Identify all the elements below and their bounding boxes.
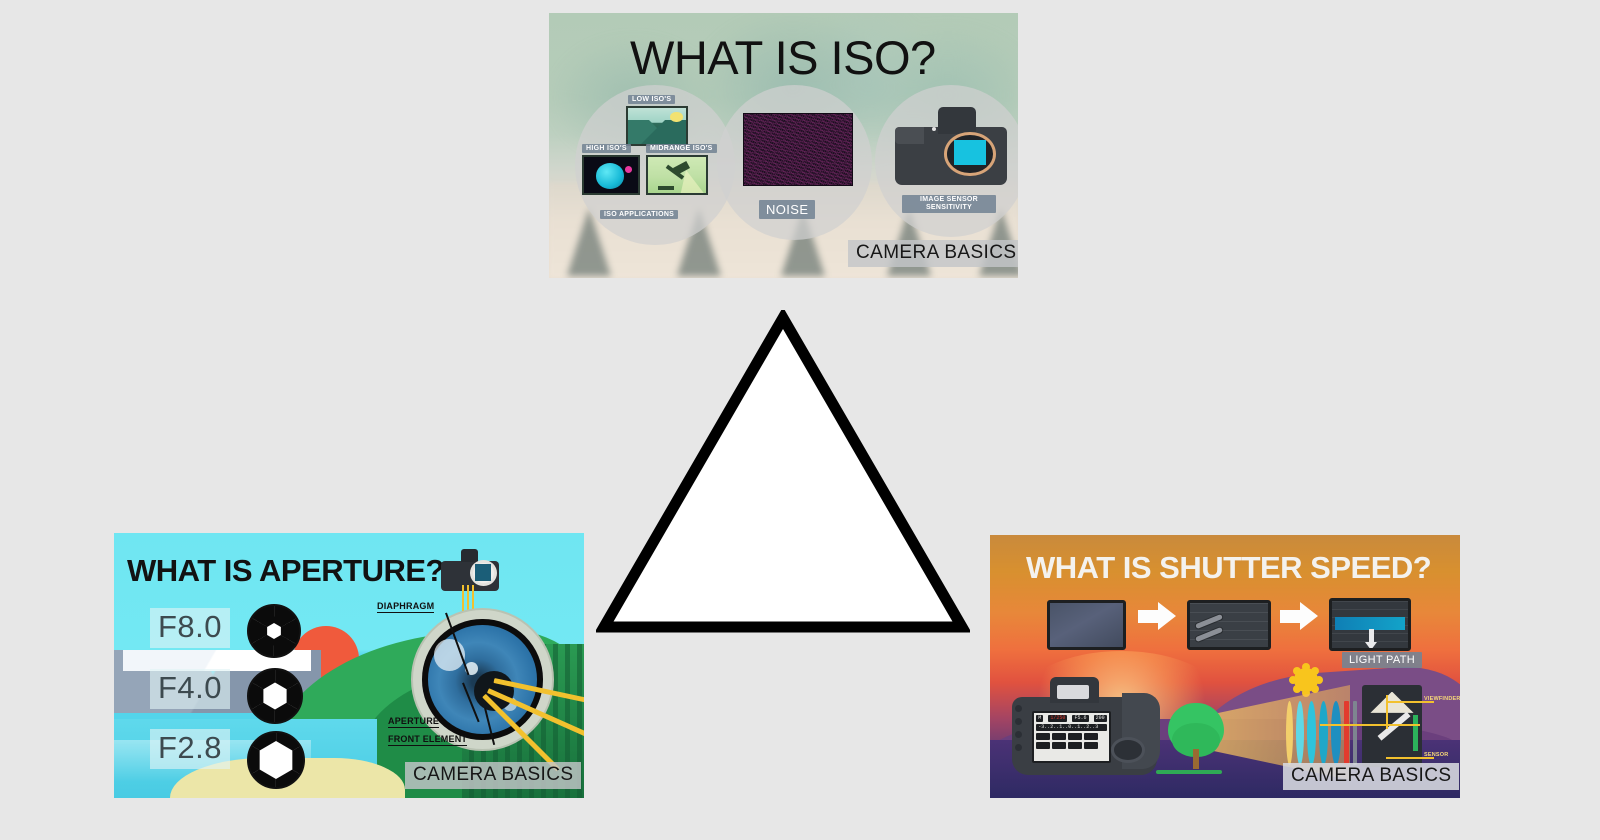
page-title: WHAT IS APERTURE? [127,553,444,589]
lcd-mode: M [1036,715,1043,722]
lcd-exposure-scale: -3..2..1..0..1..2..3 [1036,724,1106,731]
callout-aperture: APERTURE [388,716,439,728]
lens-diagram [411,608,554,751]
f-stop-label-2: F4.0 [150,669,230,709]
lcd-aperture: F5.6 [1072,715,1088,722]
thumbnail-label-midrange-iso: MIDRANGE ISO'S [646,144,717,153]
page-title: WHAT IS SHUTTER SPEED? [1026,550,1431,586]
shutter-state-closed [1047,600,1126,650]
lcd-iso: 200 [1094,715,1107,722]
iso-circle-applications[interactable]: LOW ISO'S HIGH ISO'S MIDRANGE ISO'S ISO … [575,85,735,245]
f-stop-label-1: F8.0 [150,608,230,648]
iso-circle-label-sensor: IMAGE SENSOR SENSITIVITY [902,195,996,213]
lcd-shutter: 1/250 [1048,715,1067,722]
panel-iso[interactable]: WHAT IS ISO? LOW ISO'S HIGH ISO'S MIDRAN… [549,13,1018,278]
lcd-icon-cell [1068,733,1082,740]
arrow-right-icon [1138,602,1178,632]
aperture-blade-f8-icon [247,604,301,658]
lcd-icon-cell [1052,733,1066,740]
footer-badge-aperture: CAMERA BASICS [405,762,581,789]
lcd-icon-cell [1052,742,1066,749]
mirror-box-diagram [1362,685,1422,767]
camera-lcd-panel: M 1/250 F5.6 200 -3..2..1..0..1..2..3 [1032,711,1110,763]
shutter-state-opening [1187,600,1271,650]
canvas-root: WHAT IS ISO? LOW ISO'S HIGH ISO'S MIDRAN… [0,0,1600,840]
iso-circle-label-noise: NOISE [759,200,815,219]
exposure-triangle[interactable] [596,310,970,635]
lens-element-stack [1284,701,1362,765]
dslr-camera-icon [441,549,499,591]
tree-icon [1168,703,1224,769]
sun-icon [1294,668,1318,692]
lamp-base-icon [658,186,673,190]
sensor-label-line1: IMAGE SENSOR [920,196,978,203]
light-path-line [1320,724,1420,726]
lcd-icon-cell [1036,733,1050,740]
lcd-icon-cell [1068,742,1082,749]
sensor-label-line2: SENSITIVITY [926,204,972,211]
thumbnail-label-low-iso: LOW ISO'S [628,95,675,104]
thumbnail-label-high-iso: HIGH ISO'S [582,144,631,153]
aperture-blade-f28-icon [247,731,305,789]
lcd-icon-cell [1084,733,1098,740]
footer-badge-shutter: CAMERA BASICS [1283,763,1459,790]
lcd-icon-cell [1084,742,1098,749]
camera-body-icon [895,107,1007,185]
thumbnail-midrange-iso [646,155,708,195]
thumbnail-high-iso [582,155,640,195]
footer-badge-iso: CAMERA BASICS [848,240,1018,267]
panel-aperture[interactable]: WHAT IS APERTURE? F8.0 F4.0 F2.8 [114,533,584,798]
iso-circle-sensor[interactable]: IMAGE SENSOR SENSITIVITY [875,85,1018,237]
thumbnail-noise [743,113,853,186]
dslr-camera-illustration: M 1/250 F5.6 200 -3..2..1..0..1..2..3 [1012,675,1157,775]
callout-front-element: FRONT ELEMENT [388,734,467,746]
callout-diaphragm: DIAPHRAGM [377,601,434,613]
arrow-right-icon [1280,602,1320,632]
iso-circle-label-applications: ISO APPLICATIONS [600,210,678,219]
callout-sensor: SENSOR [1424,752,1448,758]
tag-light-path: LIGHT PATH [1342,652,1422,668]
callout-viewfinder: VIEWFINDER [1424,696,1460,702]
iso-circle-noise[interactable]: NOISE [717,85,872,240]
f-stop-label-3: F2.8 [150,729,230,769]
triangle-shape [604,318,962,627]
panel-shutter-speed[interactable]: WHAT IS SHUTTER SPEED? [990,535,1460,798]
aperture-blade-f4-icon [247,668,303,724]
shutter-state-open [1329,598,1411,651]
grass-line [1156,770,1222,774]
thumbnail-low-iso [626,106,688,146]
page-title: WHAT IS ISO? [630,30,936,85]
lcd-icon-cell [1036,742,1050,749]
